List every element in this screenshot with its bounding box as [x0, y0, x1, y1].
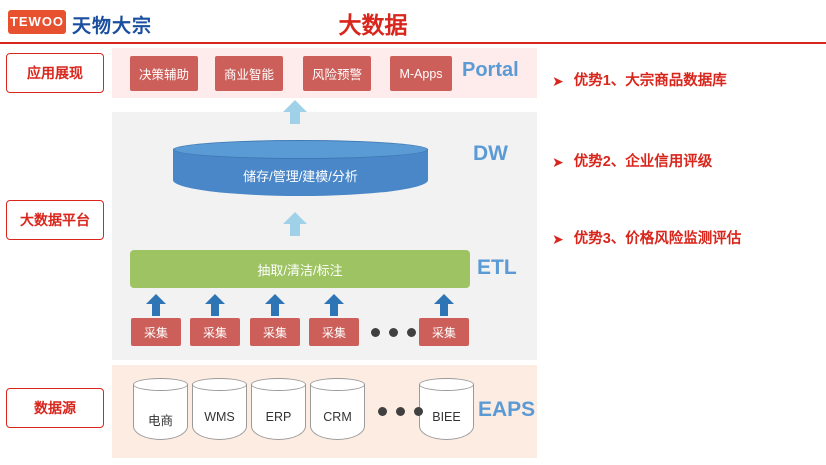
arrow-up-collect-1-icon	[146, 294, 166, 316]
collect-box-2: 采集	[190, 318, 240, 346]
arrow-up-to-dw-icon	[283, 212, 307, 236]
collect-box-3: 采集	[250, 318, 300, 346]
advantage-item-1: ➤ 优势1、大宗商品数据库	[552, 72, 820, 91]
advantage-item-2: ➤ 优势2、企业信用评级	[552, 153, 820, 172]
app-box-risk-warning[interactable]: 风险预警	[303, 56, 371, 91]
arrow-up-collect-2-icon	[205, 294, 225, 316]
app-box-business-intelligence[interactable]: 商业智能	[215, 56, 283, 91]
source-db-erp: ERP	[251, 378, 306, 442]
source-db-label: WMS	[192, 410, 247, 424]
arrow-up-collect-3-icon	[265, 294, 285, 316]
source-db-biee: BIEE	[419, 378, 474, 442]
bullet-arrow-icon: ➤	[552, 72, 564, 91]
side-label-datasource: 数据源	[6, 388, 104, 428]
tier-label-portal: Portal	[462, 59, 519, 82]
tier-label-etl: ETL	[477, 256, 517, 280]
collect-box-4: 采集	[309, 318, 359, 346]
etl-bar: 抽取/清洁/标注	[130, 250, 470, 288]
page-title-text: 大数据	[339, 12, 408, 38]
bullet-arrow-icon: ➤	[552, 230, 564, 249]
collect-box-5: 采集	[419, 318, 469, 346]
advantage-text: 优势1、大宗商品数据库	[574, 72, 727, 91]
tier-label-dw: DW	[473, 142, 508, 166]
source-db-crm: CRM	[310, 378, 365, 442]
advantage-text: 优势2、企业信用评级	[574, 153, 713, 172]
advantage-item-3: ➤ 优势3、价格风险监测评估	[552, 230, 820, 249]
source-db-wms: WMS	[192, 378, 247, 442]
advantage-text: 优势3、价格风险监测评估	[574, 230, 742, 249]
dw-cylinder: 储存/管理/建模/分析	[173, 140, 428, 202]
source-db-label: 电商	[133, 410, 188, 429]
bullet-arrow-icon: ➤	[552, 153, 564, 172]
arrow-up-collect-4-icon	[324, 294, 344, 316]
dw-label: 储存/管理/建模/分析	[173, 166, 428, 185]
side-label-platform: 大数据平台	[6, 200, 104, 240]
tier-label-eaps: EAPS	[478, 398, 535, 422]
source-db-label: CRM	[310, 410, 365, 424]
collect-box-1: 采集	[131, 318, 181, 346]
page-title: 大数据	[0, 6, 826, 40]
app-box-decision-support[interactable]: 决策辅助	[130, 56, 198, 91]
source-db-label: ERP	[251, 410, 306, 424]
ellipsis-sources-icon	[378, 407, 423, 416]
header-divider	[0, 42, 826, 44]
source-db-ecommerce: 电商	[133, 378, 188, 442]
side-label-application: 应用展现	[6, 53, 104, 93]
arrow-up-to-portal-icon	[283, 100, 307, 124]
ellipsis-collect-icon	[371, 328, 416, 337]
app-box-m-apps[interactable]: M-Apps	[390, 56, 452, 91]
arrow-up-collect-5-icon	[434, 294, 454, 316]
source-db-label: BIEE	[419, 410, 474, 424]
